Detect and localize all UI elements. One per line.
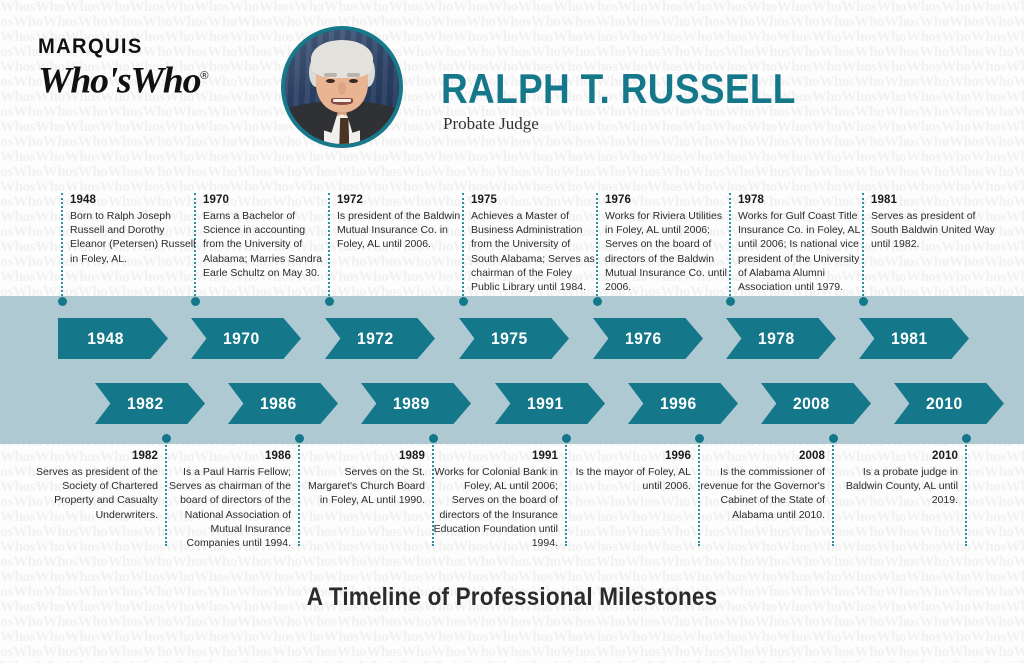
timeline-arrow-year: 1982 bbox=[127, 394, 164, 414]
timeline-entry-text: Achieves a Master of Business Administra… bbox=[471, 209, 597, 294]
timeline-entry: 1948Born to Ralph Joseph Russell and Dor… bbox=[70, 194, 196, 266]
timeline-entry: 1981Serves as president of South Baldwin… bbox=[871, 194, 997, 252]
timeline-arrow-year: 1991 bbox=[527, 394, 564, 414]
timeline-entry: 1989Serves on the St. Margaret's Church … bbox=[299, 450, 425, 508]
timeline-arrow-year: 1972 bbox=[357, 329, 394, 349]
page-subtitle: Probate Judge bbox=[443, 114, 539, 134]
connector-dot bbox=[191, 297, 200, 306]
watermark-row: WhosWhoWhosWhoWhosWhoWhosWhoWhosWhoWhosW… bbox=[0, 180, 1024, 195]
connector-dot bbox=[58, 297, 67, 306]
timeline-entry-year: 1996 bbox=[565, 450, 691, 462]
portrait-eyebrow-right bbox=[347, 73, 361, 77]
timeline-entry-year: 1991 bbox=[432, 450, 558, 462]
page-title: RALPH T. RUSSELL bbox=[441, 67, 796, 111]
timeline-entry-text: Works for Colonial Bank in Foley, AL unt… bbox=[432, 465, 558, 550]
timeline-entry-text: Is president of the Baldwin Mutual Insur… bbox=[337, 209, 463, 252]
timeline-arrow[interactable]: 1991 bbox=[495, 383, 605, 424]
brand-logo-whoswho-text: Who'sWho bbox=[38, 60, 200, 101]
timeline-entry-year: 1976 bbox=[605, 194, 731, 206]
timeline-arrow[interactable]: 1996 bbox=[628, 383, 738, 424]
timeline-entry: 1996Is the mayor of Foley, AL until 2006… bbox=[565, 450, 691, 493]
timeline-arrow[interactable]: 1982 bbox=[95, 383, 205, 424]
connector-dot bbox=[562, 434, 571, 443]
timeline-entry-text: Is the commissioner of revenue for the G… bbox=[699, 465, 825, 522]
timeline-entry-year: 1986 bbox=[165, 450, 291, 462]
timeline-entry-year: 1975 bbox=[471, 194, 597, 206]
timeline-entry-year: 1982 bbox=[32, 450, 158, 462]
connector-dot bbox=[829, 434, 838, 443]
timeline-entry: 2010Is a probate judge in Baldwin County… bbox=[832, 450, 958, 508]
timeline-arrow[interactable]: 1975 bbox=[459, 318, 569, 359]
timeline-arrow[interactable]: 2008 bbox=[761, 383, 871, 424]
timeline-arrow-year: 1981 bbox=[891, 329, 928, 349]
timeline-arrow-year: 1996 bbox=[660, 394, 697, 414]
timeline-entry-year: 1978 bbox=[738, 194, 864, 206]
timeline-entry-text: Works for Gulf Coast Title Insurance Co.… bbox=[738, 209, 864, 294]
timeline-arrow[interactable]: 1978 bbox=[726, 318, 836, 359]
connector-dot bbox=[726, 297, 735, 306]
connector-dot bbox=[459, 297, 468, 306]
registered-trademark-icon: ® bbox=[200, 70, 208, 82]
timeline-arrow-year: 1989 bbox=[393, 394, 430, 414]
timeline-entry: 1986Is a Paul Harris Fellow; Serves as c… bbox=[165, 450, 291, 550]
avatar bbox=[281, 26, 403, 148]
timeline-entry-year: 2010 bbox=[832, 450, 958, 462]
timeline-arrow-year: 1975 bbox=[491, 329, 528, 349]
timeline-entry: 1982Serves as president of the Society o… bbox=[32, 450, 158, 522]
timeline-entry-text: Works for Riviera Utilities in Foley, AL… bbox=[605, 209, 731, 294]
timeline-arrow[interactable]: 1976 bbox=[593, 318, 703, 359]
footer-title-text: A Timeline of Professional Milestones bbox=[307, 583, 718, 612]
connector-dot bbox=[962, 434, 971, 443]
connector-dot bbox=[695, 434, 704, 443]
timeline-entry-year: 1970 bbox=[203, 194, 329, 206]
timeline-arrow-year: 1978 bbox=[758, 329, 795, 349]
timeline-entry-text: Is a Paul Harris Fellow; Serves as chair… bbox=[165, 465, 291, 550]
brand-logo: MARQUIS Who'sWho® bbox=[38, 36, 248, 99]
timeline-entry-year: 1948 bbox=[70, 194, 196, 206]
connector-dot bbox=[162, 434, 171, 443]
connector-dot bbox=[859, 297, 868, 306]
timeline-arrow[interactable]: 1972 bbox=[325, 318, 435, 359]
timeline-entry-year: 1989 bbox=[299, 450, 425, 462]
portrait-photo bbox=[285, 30, 399, 144]
connector-line bbox=[965, 442, 967, 546]
timeline-entry: 1976Works for Riviera Utilities in Foley… bbox=[605, 194, 731, 294]
timeline-entry-text: Serves as president of South Baldwin Uni… bbox=[871, 209, 997, 252]
timeline-arrow-year: 1948 bbox=[87, 329, 124, 349]
timeline-entry: 1975Achieves a Master of Business Admini… bbox=[471, 194, 597, 294]
timeline-entry: 1978Works for Gulf Coast Title Insurance… bbox=[738, 194, 864, 294]
timeline-arrow[interactable]: 1948 bbox=[58, 318, 168, 359]
timeline-entry: 1972Is president of the Baldwin Mutual I… bbox=[337, 194, 463, 252]
timeline-entry-text: Is the mayor of Foley, AL until 2006. bbox=[565, 465, 691, 493]
timeline-arrow-year: 2008 bbox=[793, 394, 830, 414]
timeline-arrow-year: 1970 bbox=[223, 329, 260, 349]
portrait-necktie bbox=[339, 118, 349, 148]
brand-logo-whoswho: Who'sWho® bbox=[38, 58, 252, 99]
watermark-row: WhosWhoWhosWhoWhosWhoWhosWhoWhosWhoWhosW… bbox=[0, 645, 1024, 660]
timeline-entry: 1970Earns a Bachelor of Science in accou… bbox=[203, 194, 329, 280]
connector-dot bbox=[295, 434, 304, 443]
timeline-arrow-year: 1976 bbox=[625, 329, 662, 349]
timeline-arrow[interactable]: 1981 bbox=[859, 318, 969, 359]
timeline-entry: 2008Is the commissioner of revenue for t… bbox=[699, 450, 825, 522]
timeline-arrow[interactable]: 1970 bbox=[191, 318, 301, 359]
connector-dot bbox=[429, 434, 438, 443]
watermark-row: WhosWhoWhosWhoWhosWhoWhosWhoWhosWhoWhosW… bbox=[0, 630, 1024, 645]
timeline-entry-text: Serves as president of the Society of Ch… bbox=[32, 465, 158, 522]
timeline-entry-year: 2008 bbox=[699, 450, 825, 462]
timeline-entry-year: 1981 bbox=[871, 194, 997, 206]
portrait-nose bbox=[338, 82, 346, 95]
watermark-row: WhosWhoWhosWhoWhosWhoWhosWhoWhosWhoWhosW… bbox=[0, 615, 1024, 630]
connector-line bbox=[61, 193, 63, 300]
timeline-entry-text: Born to Ralph Joseph Russell and Dorothy… bbox=[70, 209, 196, 266]
timeline-arrow[interactable]: 2010 bbox=[894, 383, 1004, 424]
timeline-entry-year: 1972 bbox=[337, 194, 463, 206]
timeline-arrow-year: 1986 bbox=[260, 394, 297, 414]
timeline-arrow[interactable]: 1989 bbox=[361, 383, 471, 424]
timeline-arrow[interactable]: 1986 bbox=[228, 383, 338, 424]
footer-title: A Timeline of Professional Milestones bbox=[0, 583, 1024, 612]
timeline-entry-text: Earns a Bachelor of Science in accountin… bbox=[203, 209, 329, 280]
timeline-entry: 1991Works for Colonial Bank in Foley, AL… bbox=[432, 450, 558, 550]
timeline-arrow-year: 2010 bbox=[926, 394, 963, 414]
connector-dot bbox=[325, 297, 334, 306]
header: MARQUIS Who'sWho® bbox=[0, 0, 1024, 180]
watermark-row: WhosWhoWhosWhoWhosWhoWhosWhoWhosWhoWhosW… bbox=[0, 555, 1024, 570]
connector-dot bbox=[593, 297, 602, 306]
timeline-entry-text: Serves on the St. Margaret's Church Boar… bbox=[299, 465, 425, 508]
infographic-page: WhosWhoWhosWhoWhosWhoWhosWhoWhosWhoWhosW… bbox=[0, 0, 1024, 663]
brand-logo-marquis: MARQUIS bbox=[38, 36, 240, 58]
portrait-hair bbox=[311, 40, 373, 78]
timeline-entry-text: Is a probate judge in Baldwin County, AL… bbox=[832, 465, 958, 508]
portrait-eyebrow-left bbox=[324, 73, 338, 77]
portrait-teeth bbox=[333, 99, 351, 102]
